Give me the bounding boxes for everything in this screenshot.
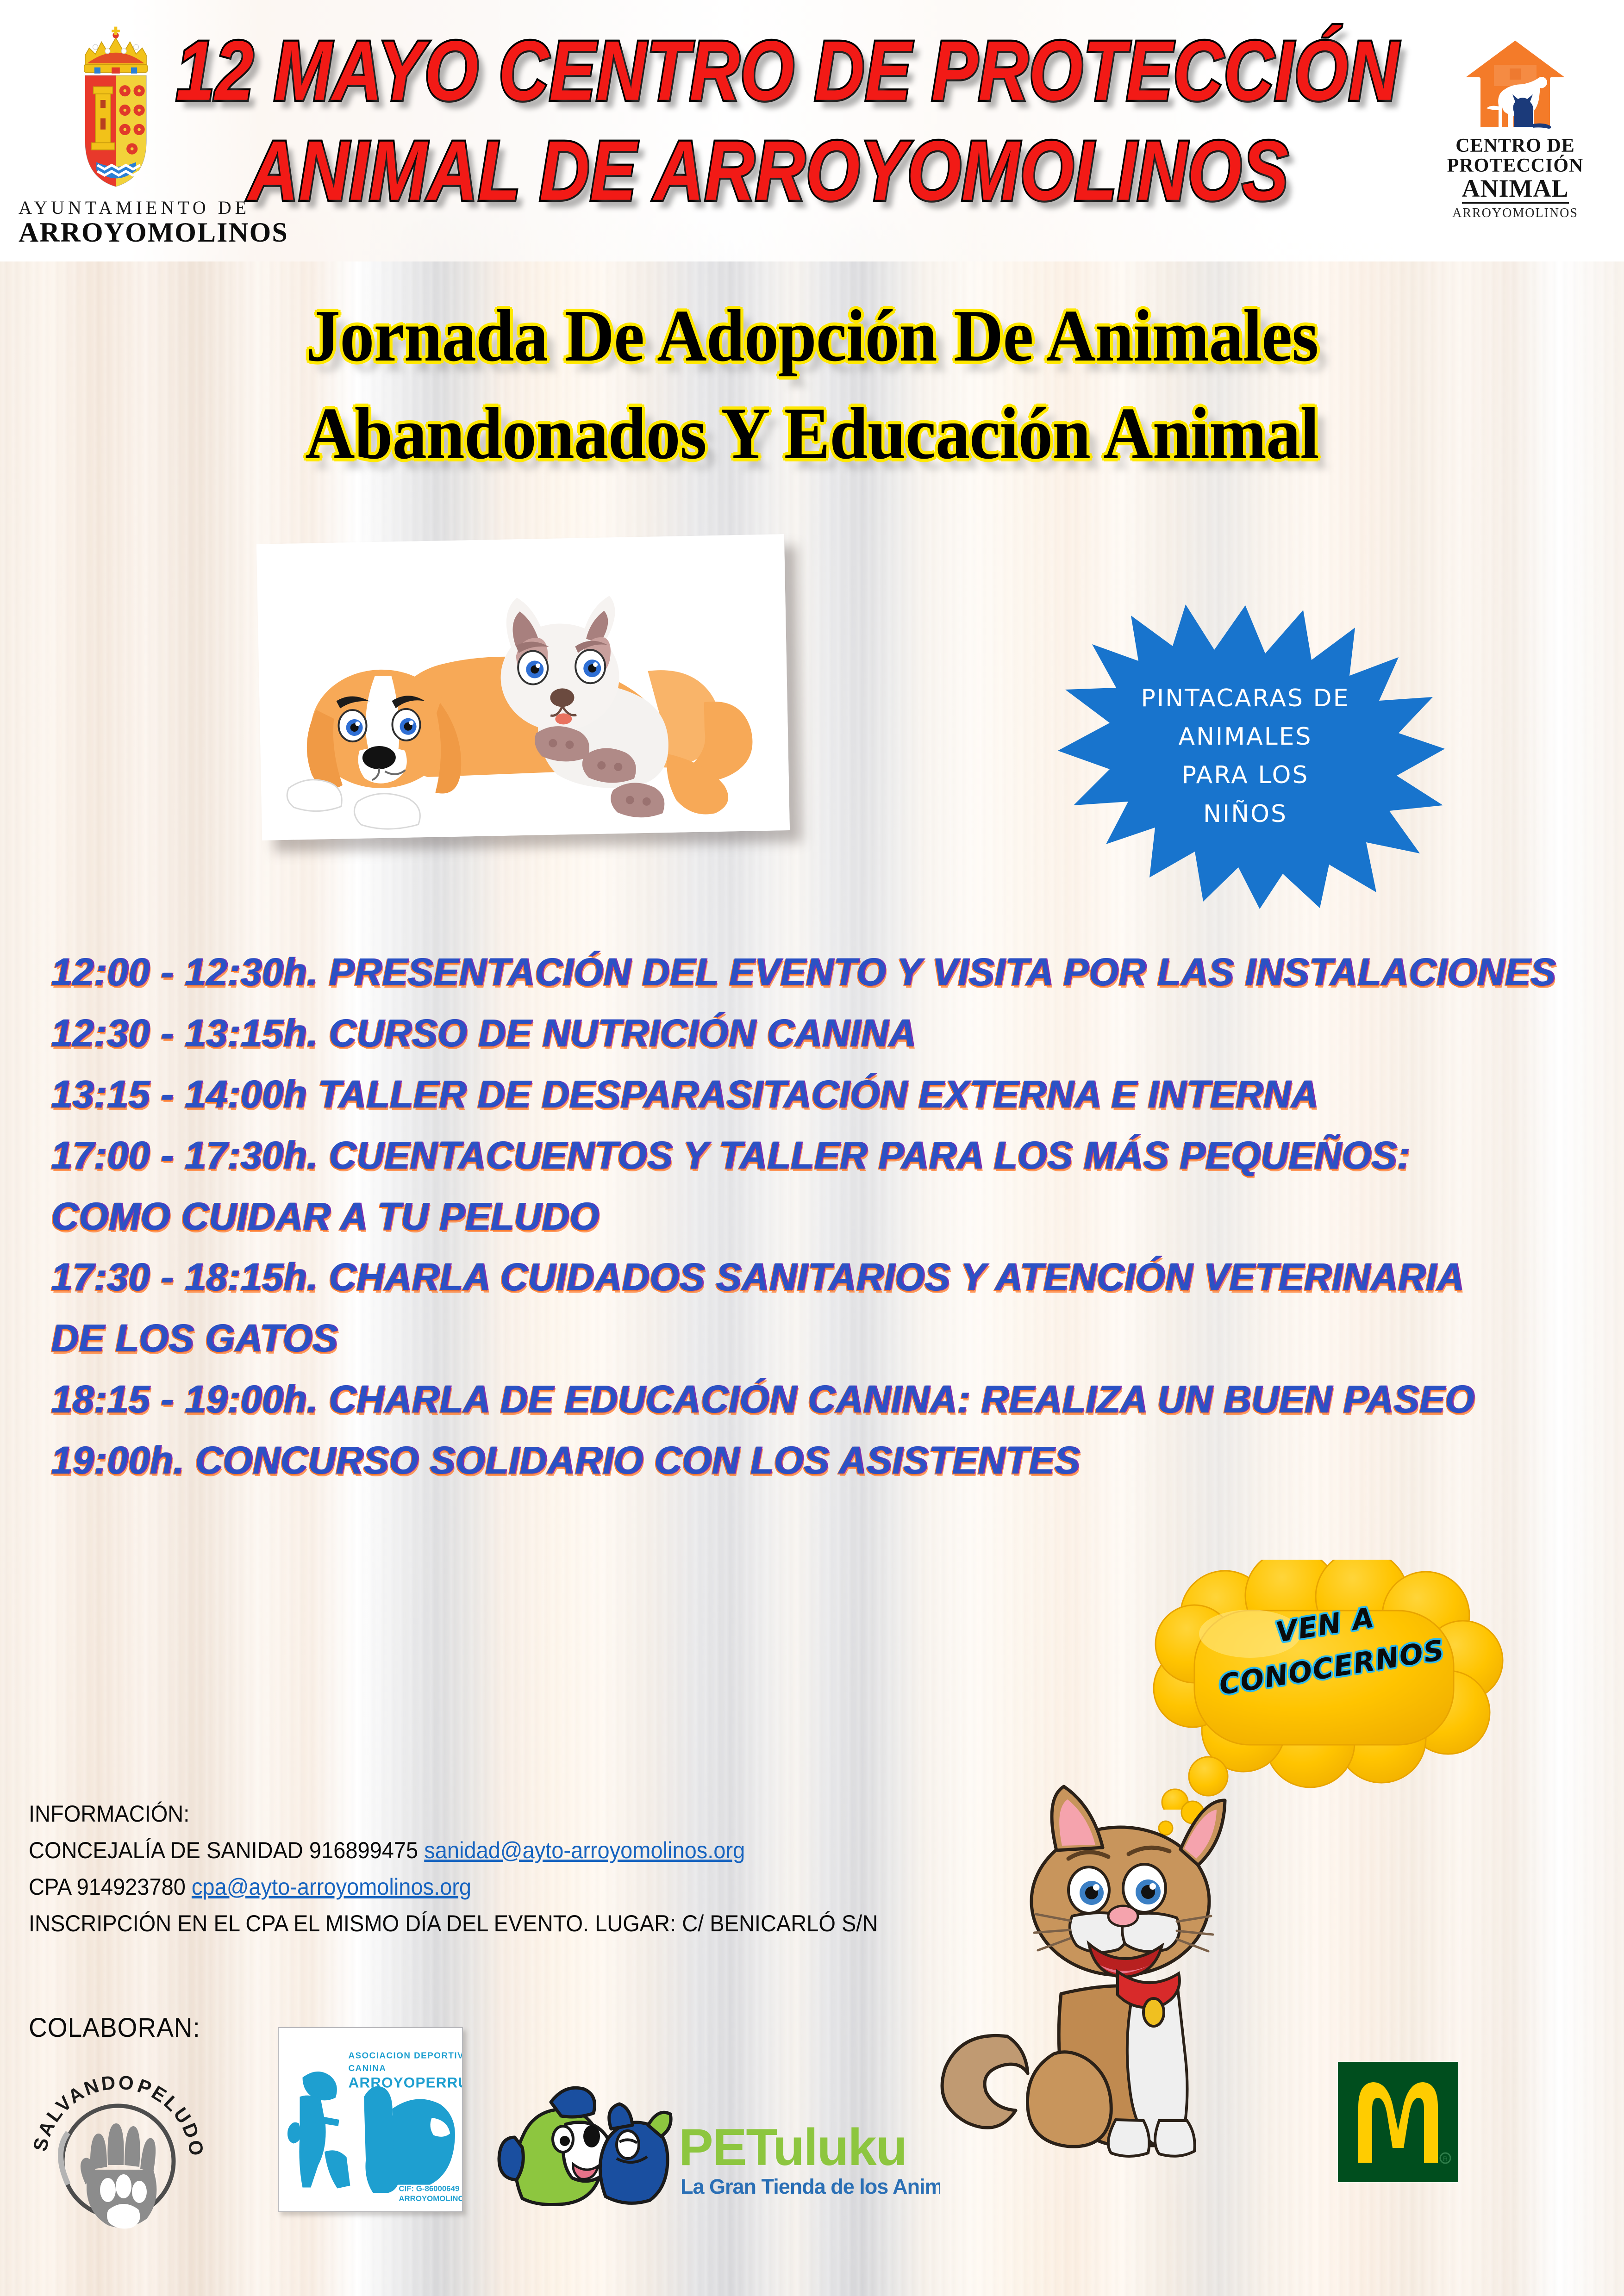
- logo-petuluku: PETuluku La Gran Tienda de los Animales: [495, 2060, 940, 2217]
- svg-text:ARROYOPERRUNOS: ARROYOPERRUNOS: [348, 2074, 462, 2091]
- cpa-line1: CENTRO DE: [1428, 136, 1603, 156]
- svg-text:ARROYOMOLINOS: ARROYOMOLINOS: [399, 2194, 462, 2203]
- puppy-and-kitten-photo: [256, 534, 790, 840]
- email-cpa-link[interactable]: cpa@ayto-arroyomolinos.org: [192, 1874, 471, 1900]
- house-icon: [1460, 36, 1571, 133]
- schedule-item: 12:00 - 12:30h. PRESENTACIÓN DEL EVENTO …: [51, 942, 1555, 1003]
- email-sanidad-link[interactable]: sanidad@ayto-arroyomolinos.org: [424, 1837, 745, 1863]
- event-date-headline: 12 MAYO CENTRO DE PROTECCIÓN ANIMAL DE A…: [176, 21, 1361, 221]
- starburst-line-2: ANIMALES: [1044, 718, 1447, 756]
- page-title: Jornada De Adopción De Animales Abandona…: [57, 287, 1567, 482]
- info-cpa-text: CPA 914923780: [29, 1874, 192, 1900]
- logo-salvando-peludos: SALVANDO PELUDOS: [25, 2046, 211, 2245]
- svg-text:CANINA: CANINA: [348, 2063, 386, 2073]
- headline-line-2: ANIMAL DE ARROYOMOLINOS: [176, 121, 1361, 221]
- thought-bubble: VEN A CONOCERNOS: [1139, 1560, 1509, 1810]
- schedule-item: 18:15 - 19:00h. CHARLA DE EDUCACIÓN CANI…: [51, 1369, 1555, 1430]
- schedule-item: 17:00 - 17:30h. CUENTACUENTOS Y TALLER P…: [51, 1125, 1555, 1186]
- info-heading: INFORMACIÓN:: [29, 1796, 1030, 1832]
- info-inscripcion: INSCRIPCIÓN EN EL CPA EL MISMO DÍA DEL E…: [29, 1905, 1030, 1942]
- poster-canvas: AYUNTAMIENTO DE ARROYOMOLINOS 12 MAYO CE…: [0, 0, 1624, 2296]
- schedule-item: 17:30 - 18:15h. CHARLA CUIDADOS SANITARI…: [51, 1247, 1555, 1308]
- schedule-item: COMO CUIDAR A TU PELUDO: [51, 1186, 1555, 1247]
- coat-of-arms-icon: [65, 19, 167, 194]
- starburst-line-3: PARA LOS: [1044, 756, 1447, 795]
- schedule-item: 19:00h. CONCURSO SOLIDARIO CON LOS ASIST…: [51, 1430, 1555, 1491]
- svg-text:R: R: [1443, 2155, 1448, 2162]
- cpa-line3: ANIMAL: [1462, 176, 1569, 204]
- logo-mcdonalds: R: [1338, 2062, 1458, 2182]
- petuluku-tagline: La Gran Tienda de los Animales: [681, 2175, 940, 2198]
- svg-text:ASOCIACION DEPORTIVA: ASOCIACION DEPORTIVA: [348, 2050, 462, 2060]
- schedule-item: 13:15 - 14:00h TALLER DE DESPARASITACIÓN…: [51, 1064, 1555, 1125]
- info-sanidad-text: CONCEJALÍA DE SANIDAD 916899475: [29, 1837, 424, 1863]
- page-title-line-1: Jornada De Adopción De Animales: [57, 287, 1567, 385]
- starburst-line-4: NIÑOS: [1044, 795, 1447, 834]
- cpa-line2: PROTECCIÓN: [1428, 156, 1603, 176]
- information-block: INFORMACIÓN: CONCEJALÍA DE SANIDAD 91689…: [29, 1796, 1030, 1942]
- starburst-line-1: PINTACARAS DE: [1044, 679, 1447, 718]
- info-sanidad-row: CONCEJALÍA DE SANIDAD 916899475 sanidad@…: [29, 1832, 1030, 1869]
- cpa-line4: ARROYOMOLINOS: [1428, 206, 1603, 221]
- starburst-text: PINTACARAS DE ANIMALES PARA LOS NIÑOS: [1044, 679, 1447, 834]
- petuluku-wordmark: PETuluku: [679, 2118, 906, 2176]
- centro-proteccion-animal-logo: CENTRO DE PROTECCIÓN ANIMAL ARROYOMOLINO…: [1425, 32, 1605, 227]
- info-cpa-row: CPA 914923780 cpa@ayto-arroyomolinos.org: [29, 1869, 1030, 1905]
- svg-text:CIF: G-86000649: CIF: G-86000649: [399, 2184, 459, 2193]
- page-title-line-2: Abandonados Y Educación Animal: [57, 385, 1567, 482]
- headline-line-1: 12 MAYO CENTRO DE PROTECCIÓN: [176, 21, 1361, 121]
- logo-arroyoperrunos: ASOCIACION DEPORTIVA CANINA ARROYOPERRUN…: [278, 2027, 463, 2212]
- pintacaras-starburst: PINTACARAS DE ANIMALES PARA LOS NIÑOS: [1044, 602, 1447, 912]
- schedule-item: DE LOS GATOS: [51, 1308, 1555, 1369]
- colaboran-label: COLABORAN:: [29, 2012, 200, 2043]
- ayuntamiento-line2: ARROYOMOLINOS: [19, 218, 213, 246]
- schedule-item: 12:30 - 13:15h. CURSO DE NUTRICIÓN CANIN…: [51, 1003, 1555, 1064]
- schedule-list: 12:00 - 12:30h. PRESENTACIÓN DEL EVENTO …: [51, 942, 1602, 1491]
